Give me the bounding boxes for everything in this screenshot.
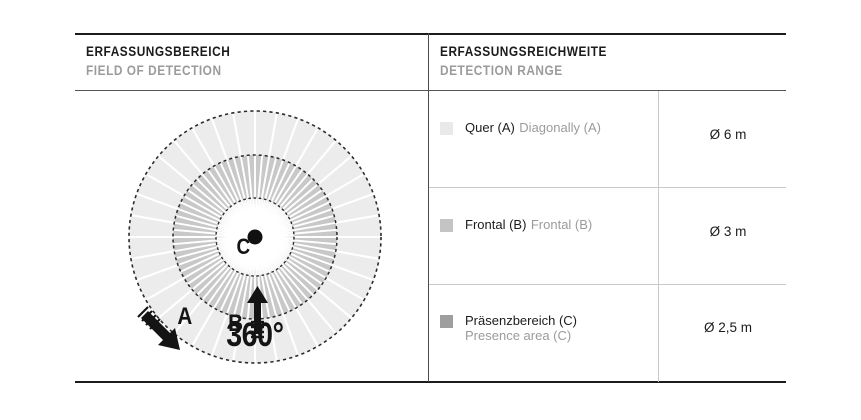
legend-label-en: Presence area (C): [465, 328, 571, 343]
header-title-de: ERFASSUNGSBEREICH: [86, 43, 230, 60]
legend-label-en: Frontal (B): [531, 217, 592, 232]
header-title-de: ERFASSUNGSREICHWEITE: [440, 43, 607, 60]
radial-detection-diagram: C B A 360°: [110, 98, 400, 383]
detection-range-header: ERFASSUNGSREICHWEITE DETECTION RANGE: [440, 43, 630, 79]
header-separator-rule: [75, 90, 786, 91]
field-of-detection-header: ERFASSUNGSBEREICH FIELD OF DETECTION: [86, 43, 250, 79]
row-separator: [429, 187, 786, 188]
angle-label: 360°: [226, 316, 283, 354]
legend-label-en: Diagonally (A): [519, 120, 601, 135]
header-title-en: DETECTION RANGE: [440, 62, 607, 79]
legend-row-c: Präsenzbereich (C) Presence area (C): [440, 313, 655, 343]
legend-label-de: Frontal (B): [465, 217, 526, 232]
zone-c-label: C: [236, 235, 250, 260]
swatch-b-icon: [440, 219, 453, 232]
range-value-a: Ø 6 m: [670, 127, 786, 142]
legend-label-de: Präsenzbereich (C): [465, 313, 577, 328]
range-value-c: Ø 2,5 m: [670, 320, 786, 335]
legend-label-de: Quer (A): [465, 120, 515, 135]
legend-row-a: Quer (A) Diagonally (A): [440, 120, 655, 135]
header-title-en: FIELD OF DETECTION: [86, 62, 230, 79]
swatch-a-icon: [440, 122, 453, 135]
frame-top-rule: [75, 33, 786, 35]
detection-spec-panel: ERFASSUNGSBEREICH FIELD OF DETECTION ERF…: [0, 0, 861, 420]
range-value-b: Ø 3 m: [670, 224, 786, 239]
row-separator: [429, 284, 786, 285]
column-divider: [428, 33, 429, 382]
legend-row-b: Frontal (B) Frontal (B): [440, 217, 655, 232]
zone-a-label: A: [177, 303, 192, 330]
value-column-divider: [658, 91, 659, 382]
swatch-c-icon: [440, 315, 453, 328]
